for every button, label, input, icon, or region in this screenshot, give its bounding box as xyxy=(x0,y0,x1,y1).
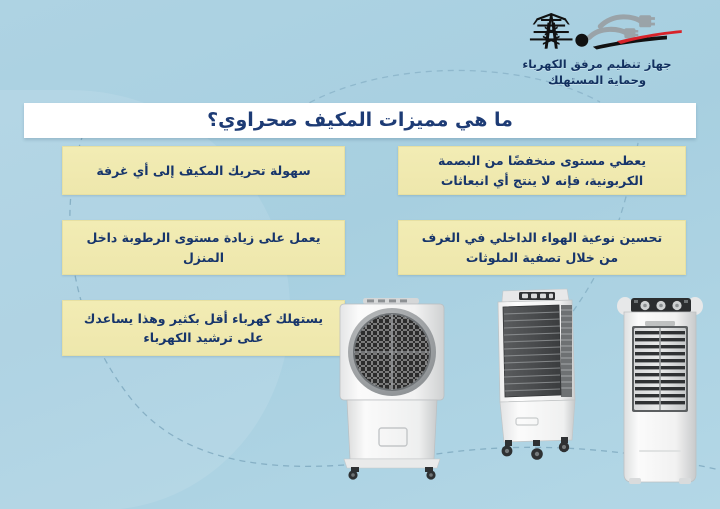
product-image-cooler-round-grille xyxy=(333,297,451,480)
feature-text: تحسين نوعية الهواء الداخلي في الغرف من خ… xyxy=(411,228,673,267)
feature-box-increases-humidity: يعمل على زيادة مستوى الرطوبة داخل المنزل xyxy=(62,220,345,275)
logo-line-1: جهاز تنظيم مرفق الكهرباء xyxy=(492,57,702,73)
feature-box-low-carbon-footprint: يعطي مستوى منخفضًا من البصمة الكربونية، … xyxy=(398,146,686,195)
product-image-cooler-louvered-panel xyxy=(489,288,587,466)
page-title: ما هي مميزات المكيف صحراوي؟ xyxy=(207,111,513,130)
infographic-canvas: جهاز تنظيم مرفق الكهرباء وحماية المستهلك… xyxy=(0,0,720,509)
feature-box-saves-electricity: يستهلك كهرباء أقل بكثير وهذا يساعدك على … xyxy=(62,300,345,356)
feature-box-improves-air-quality: تحسين نوعية الهواء الداخلي في الغرف من خ… xyxy=(398,220,686,275)
product-image-cooler-slim-tower xyxy=(615,290,705,490)
logo-line-2: وحماية المستهلك xyxy=(492,73,702,89)
electric-pylon-and-plugs-icon xyxy=(504,6,689,56)
logo-text-block: جهاز تنظيم مرفق الكهرباء وحماية المستهلك xyxy=(492,57,702,88)
feature-text: يستهلك كهرباء أقل بكثير وهذا يساعدك على … xyxy=(75,309,332,348)
organization-logo: جهاز تنظيم مرفق الكهرباء وحماية المستهلك xyxy=(492,6,702,88)
feature-text: يعطي مستوى منخفضًا من البصمة الكربونية، … xyxy=(411,151,673,190)
feature-text: يعمل على زيادة مستوى الرطوبة داخل المنزل xyxy=(75,228,332,267)
feature-text: سهولة تحريك المكيف إلى أي غرفة xyxy=(75,161,332,180)
title-bar: ما هي مميزات المكيف صحراوي؟ xyxy=(24,103,696,138)
feature-box-move-easily: سهولة تحريك المكيف إلى أي غرفة xyxy=(62,146,345,195)
